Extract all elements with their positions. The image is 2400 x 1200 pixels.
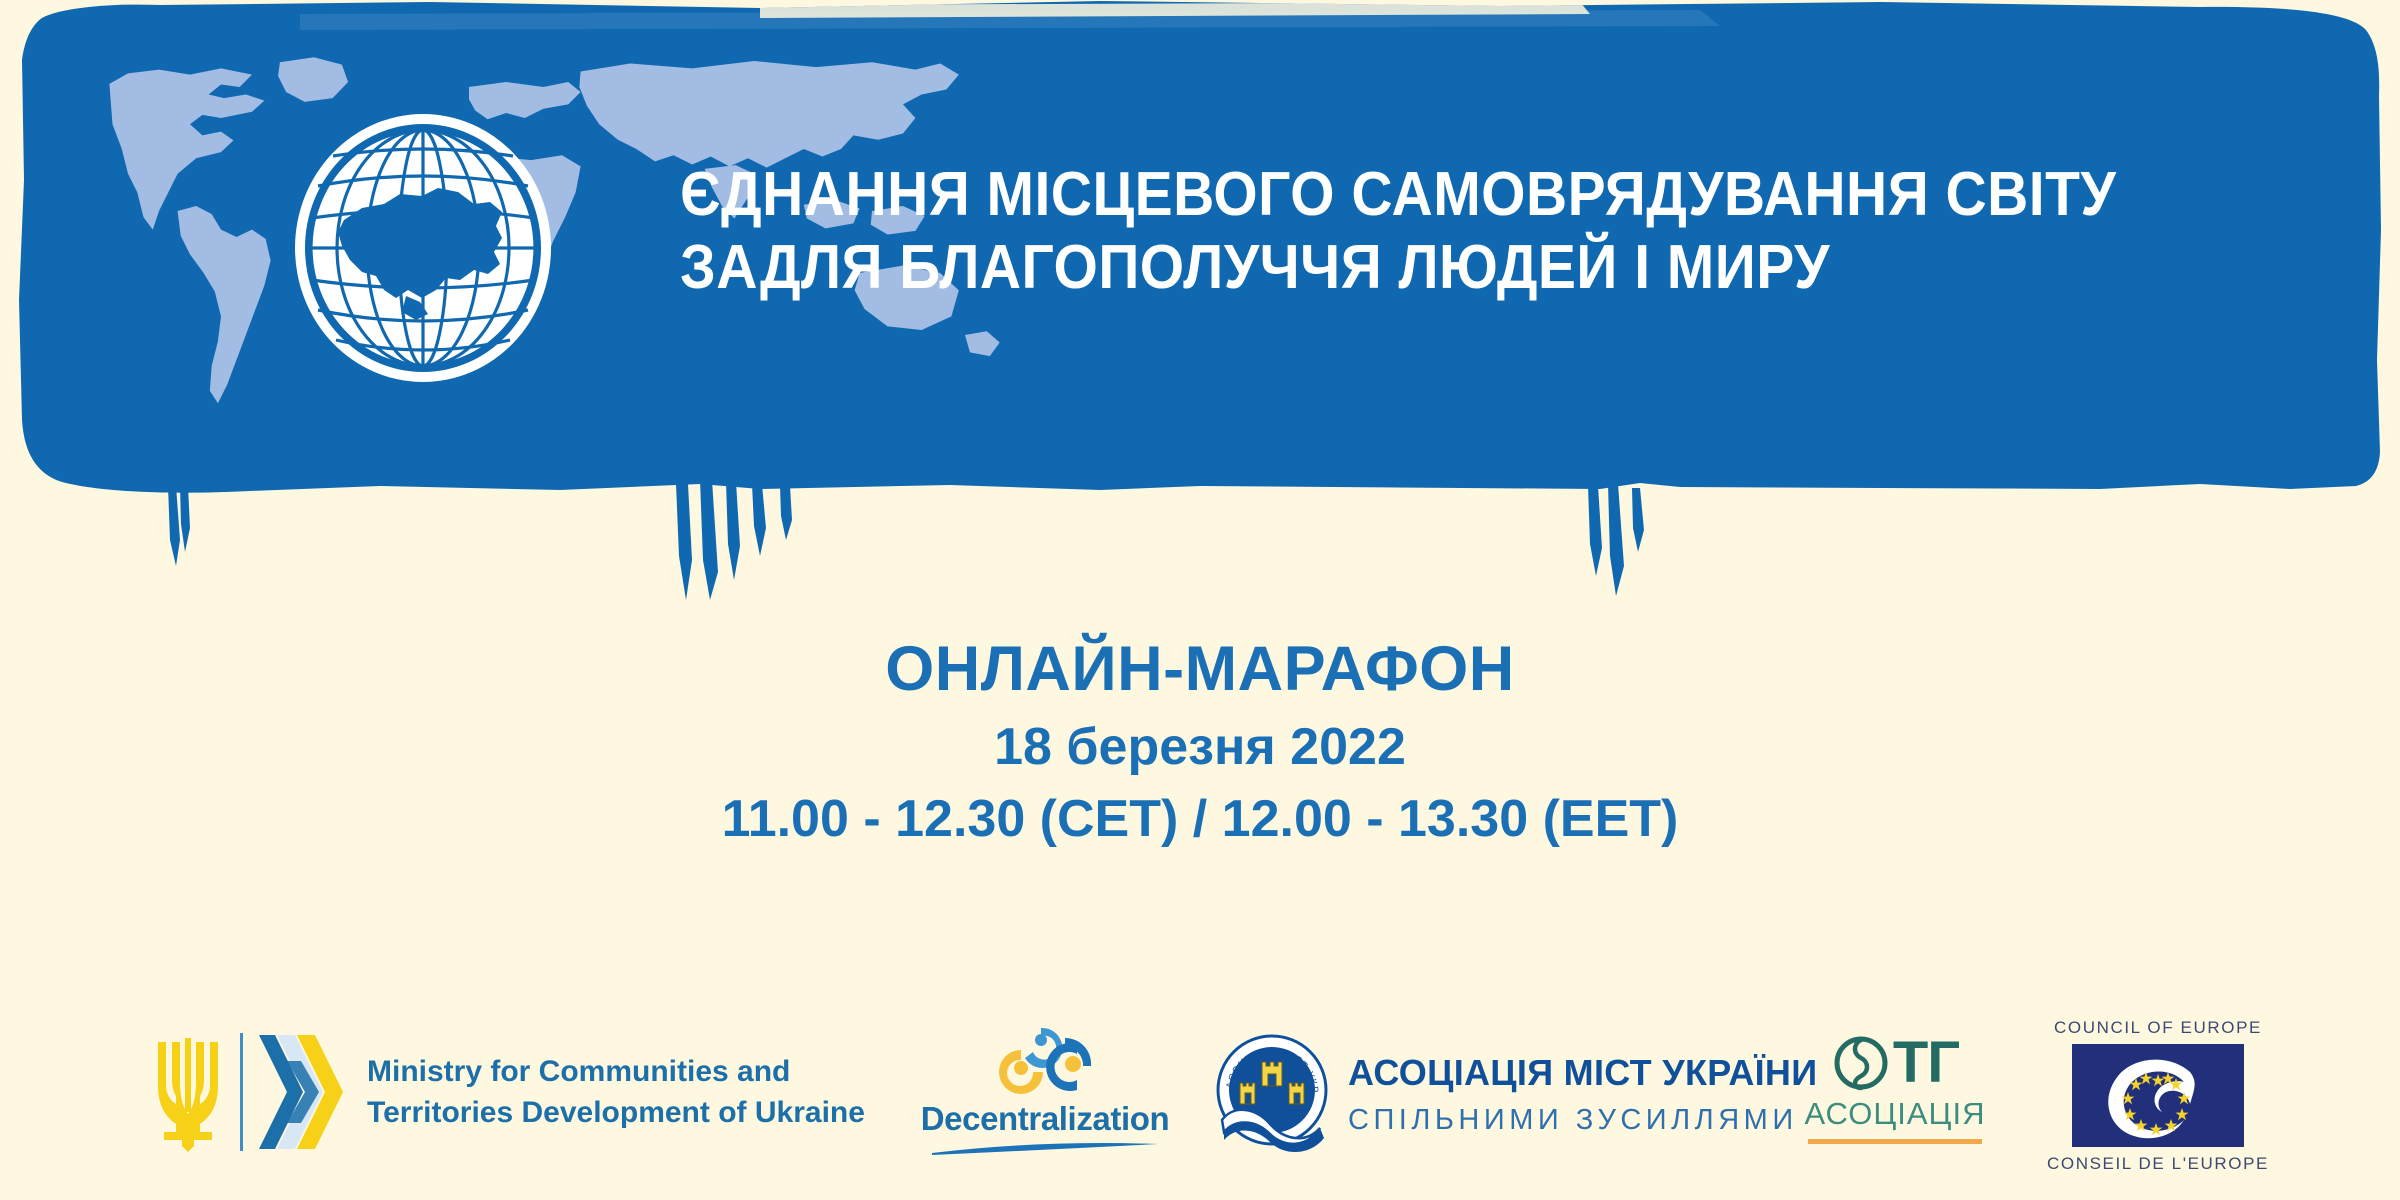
otg-letters: ТГ: [1893, 1035, 1959, 1090]
event-type: ОНЛАЙН-МАРАФОН: [0, 635, 2400, 704]
banner-title-line-1: ЄДНАННЯ МІСЦЕВОГО САМОВРЯДУВАННЯ СВІТУ: [680, 158, 2189, 231]
globe-with-ukraine-icon: [288, 108, 558, 388]
coe-caption-en: COUNCIL OF EUROPE: [2054, 1018, 2262, 1038]
logo-council-of-europe[interactable]: COUNCIL OF EUROPE CONSEIL DE L'EUROP: [2068, 1018, 2248, 1174]
banner: ЄДНАННЯ МІСЦЕВОГО САМОВРЯДУВАННЯ СВІТУ З…: [0, 0, 2400, 600]
amu-title: АСОЦІАЦІЯ МІСТ УКРАЇНИ: [1348, 1052, 1817, 1094]
logo-otg[interactable]: ТГ АСОЦІАЦІЯ: [1805, 1032, 1985, 1144]
otg-top-row: ТГ: [1831, 1032, 1959, 1094]
council-of-europe-flag-icon: [2072, 1044, 2244, 1147]
event-time: 11.00 - 12.30 (CET) / 12.00 - 13.30 (EET…: [0, 790, 2400, 850]
ministry-logo-divider: [240, 1033, 243, 1151]
ministry-name-line-2: Territories Development of Ukraine: [367, 1092, 865, 1133]
coe-caption-fr: CONSEIL DE L'EUROPE: [2047, 1154, 2269, 1174]
decentralization-people-icon: [985, 1024, 1105, 1096]
event-details: ОНЛАЙН-МАРАФОН 18 березня 2022 11.00 - 1…: [0, 635, 2400, 850]
banner-title-line-2: ЗАДЛЯ БЛАГОПОЛУЧЧЯ ЛЮДЕЙ І МИРУ: [680, 231, 2189, 304]
decentralization-wordmark: Decentralization: [921, 1100, 1170, 1138]
partner-logo-strip: Ministry for Communities and Territories…: [0, 1010, 2400, 1180]
event-date: 18 березня 2022: [0, 718, 2400, 778]
otg-association-label: АСОЦІАЦІЯ: [1805, 1096, 1986, 1132]
amu-seal-icon: АСОЦІАЦІЯ МІСТ УКРАЇНИ: [1212, 1028, 1332, 1160]
banner-title: ЄДНАННЯ МІСЦЕВОГО САМОВРЯДУВАННЯ СВІТУ З…: [680, 158, 2189, 304]
ministry-name: Ministry for Communities and Territories…: [367, 1051, 865, 1134]
logo-decentralization[interactable]: Decentralization: [920, 1024, 1170, 1156]
decentralization-swoosh-icon: [930, 1140, 1160, 1156]
logo-amu[interactable]: АСОЦІАЦІЯ МІСТ УКРАЇНИ АСОЦІАЦІЯ МІСТ УК…: [1212, 1026, 1817, 1162]
ministry-name-line-1: Ministry for Communities and: [367, 1051, 865, 1092]
logo-ministry[interactable]: Ministry for Communities and Territories…: [152, 1022, 865, 1162]
otg-ring-icon: [1831, 1032, 1891, 1094]
amu-text-block: АСОЦІАЦІЯ МІСТ УКРАЇНИ СПІЛЬНИМИ ЗУСИЛЛЯ…: [1348, 1052, 1817, 1137]
otg-underline-rule: [1808, 1139, 1982, 1144]
ministry-chevron-icon: [257, 1031, 343, 1153]
amu-subtitle: СПІЛЬНИМИ ЗУСИЛЛЯМИ: [1348, 1104, 1817, 1137]
ukraine-tryzub-icon: [152, 1032, 224, 1152]
